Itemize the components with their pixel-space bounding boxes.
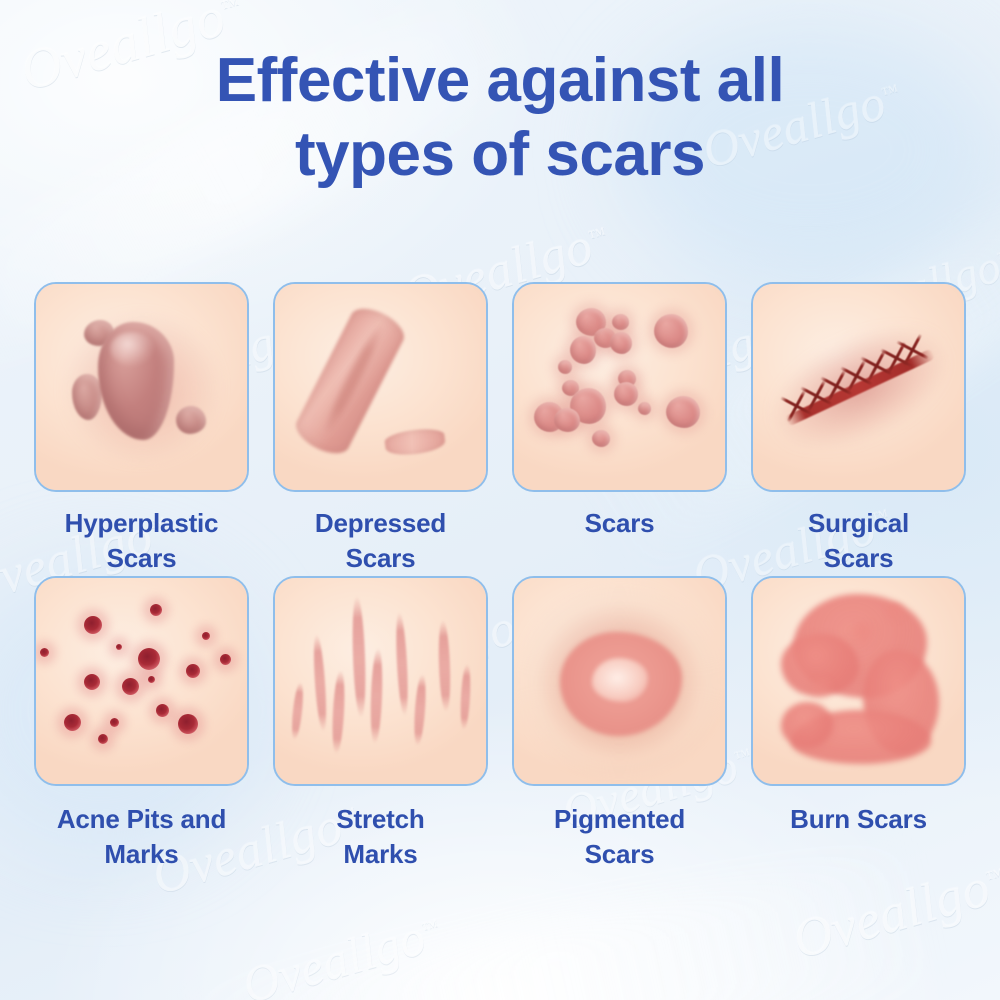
- page-title: Effective against all types of scars: [0, 44, 1000, 192]
- scar-card-label: Acne Pits andMarks: [34, 802, 249, 872]
- scar-card-label: SurgicalScars: [751, 506, 966, 576]
- scar-image-striae-lines: [273, 576, 488, 786]
- scar-illustration: [275, 578, 486, 784]
- acne-pit: [150, 604, 162, 616]
- scar-illustration: [753, 284, 964, 490]
- burn-speck: [849, 620, 879, 650]
- burn-speck: [885, 602, 907, 624]
- scar-image-pigmented-lesion: [512, 576, 727, 786]
- pigment-core: [592, 658, 648, 702]
- scar-illustration: [275, 284, 486, 490]
- stretch-mark-line: [413, 674, 428, 747]
- scar-illustration: [514, 578, 725, 784]
- scar-card-pigmented-scars[interactable]: PigmentedScars: [512, 576, 727, 872]
- depressed-scar-small: [384, 426, 446, 457]
- scar-image-raised-bumpy-scars: [512, 282, 727, 492]
- keloid-highlight: [110, 332, 154, 366]
- scar-bump: [614, 382, 638, 406]
- acne-pit: [40, 648, 49, 657]
- keloid-lobe: [176, 406, 206, 434]
- title-line-2: types of scars: [0, 118, 1000, 192]
- acne-pit: [148, 676, 155, 683]
- scar-card-stretch-marks[interactable]: StretchMarks: [273, 576, 488, 872]
- scar-bump: [554, 408, 580, 432]
- burn-speck: [809, 676, 835, 702]
- stretch-mark-line: [369, 648, 383, 744]
- scar-card-label: Scars: [512, 506, 727, 541]
- acne-pit: [84, 616, 102, 634]
- stretch-mark-line: [351, 596, 367, 718]
- stretch-mark-line: [290, 682, 305, 741]
- scar-card-depressed-scars[interactable]: DepressedScars: [273, 282, 488, 576]
- scar-card-label: HyperplasticScars: [34, 506, 249, 576]
- scar-image-acne-pits: [34, 576, 249, 786]
- scar-image-sutured-incision: [751, 282, 966, 492]
- scar-bump: [612, 314, 629, 330]
- scar-card-burn-scars[interactable]: Burn Scars: [751, 576, 966, 872]
- acne-pit: [84, 674, 100, 690]
- acne-pit: [178, 714, 198, 734]
- acne-pit: [122, 678, 139, 695]
- acne-pit: [220, 654, 231, 665]
- acne-pit: [110, 718, 119, 727]
- scar-illustration: [514, 284, 725, 490]
- acne-pit: [156, 704, 169, 717]
- scar-card-label: Burn Scars: [751, 802, 966, 837]
- scar-illustration: [753, 578, 964, 784]
- scar-card-acne-pits-and-marks[interactable]: Acne Pits andMarks: [34, 576, 249, 872]
- stretch-mark-line: [459, 664, 471, 730]
- scar-image-keloid-raised-scar: [34, 282, 249, 492]
- scar-card-label: PigmentedScars: [512, 802, 727, 872]
- stretch-mark-line: [312, 634, 329, 732]
- scar-illustration: [36, 578, 247, 784]
- acne-pit: [98, 734, 108, 744]
- scar-bump: [592, 430, 610, 447]
- scar-card-hyperplastic-scars[interactable]: HyperplasticScars: [34, 282, 249, 576]
- stretch-mark-line: [394, 612, 409, 716]
- scar-card-scars[interactable]: Scars: [512, 282, 727, 576]
- scar-bump: [558, 360, 572, 374]
- scar-card-label: DepressedScars: [273, 506, 488, 576]
- burn-mass: [781, 702, 833, 748]
- watermark-text: Oveallgo™: [236, 903, 448, 1000]
- poster-root: Oveallgo™Oveallgo™Oveallgo™Oveallgo™Ovea…: [0, 0, 1000, 1000]
- scar-bump: [610, 332, 632, 354]
- scar-bump: [666, 396, 700, 428]
- scar-bump: [638, 402, 651, 415]
- scar-image-sunken-linear-scar: [273, 282, 488, 492]
- stretch-mark-line: [331, 670, 346, 754]
- title-line-1: Effective against all: [0, 44, 1000, 118]
- acne-pit: [138, 648, 160, 670]
- acne-pit: [64, 714, 81, 731]
- scar-image-burn-patch: [751, 576, 966, 786]
- scar-bump: [570, 336, 596, 364]
- stretch-mark-line: [437, 620, 451, 712]
- scar-bump: [654, 314, 688, 348]
- acne-pit: [116, 644, 122, 650]
- scar-type-grid: HyperplasticScarsDepressedScarsScarsSurg…: [34, 282, 966, 872]
- acne-pit: [186, 664, 200, 678]
- acne-pit: [202, 632, 210, 640]
- scar-card-surgical-scars[interactable]: SurgicalScars: [751, 282, 966, 576]
- scar-illustration: [36, 284, 247, 490]
- scar-card-label: StretchMarks: [273, 802, 488, 872]
